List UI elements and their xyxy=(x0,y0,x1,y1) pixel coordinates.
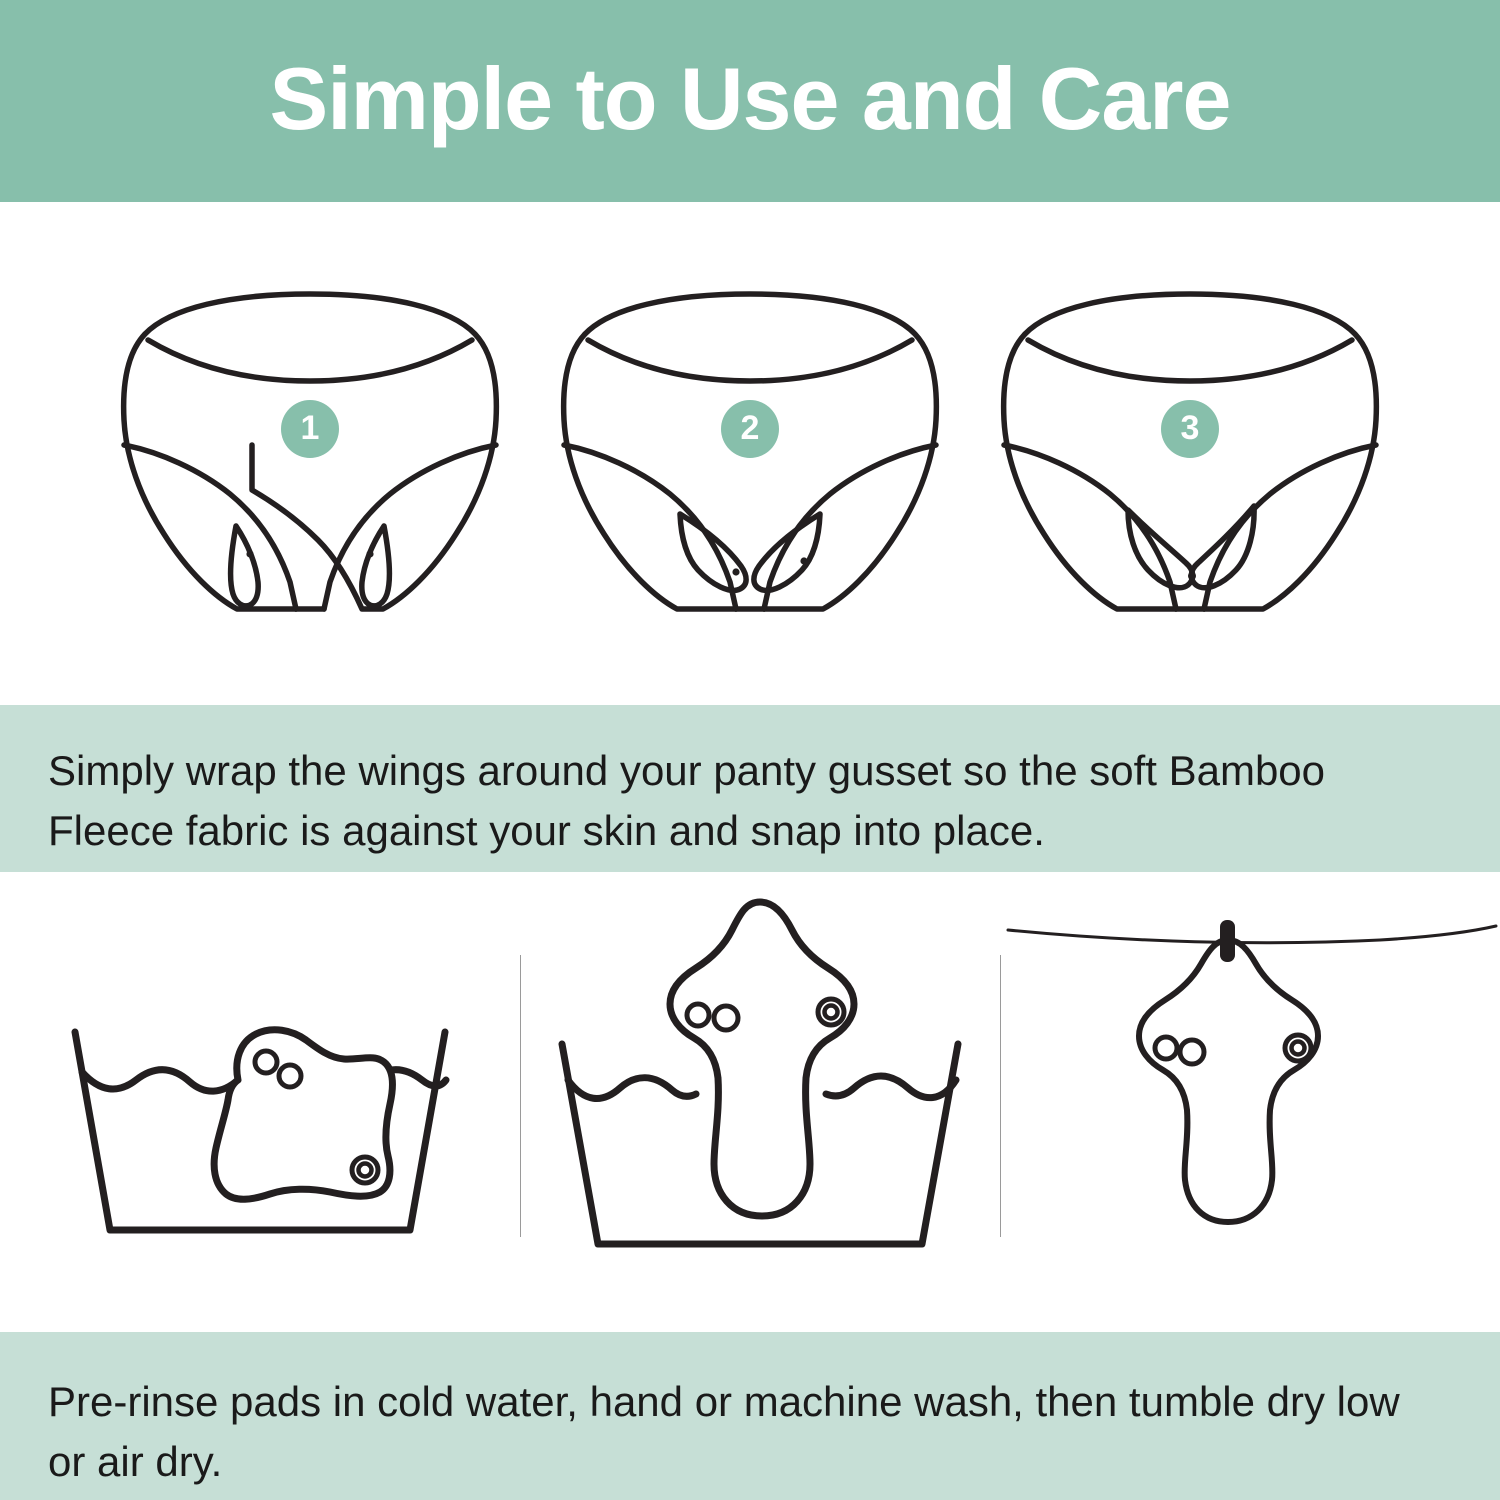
care-icon-cell-1 xyxy=(0,872,520,1332)
snap-socket-inner xyxy=(825,1006,838,1019)
step-number-2: 2 xyxy=(741,411,760,445)
care-instruction-text: Pre-rinse pads in cold water, hand or ma… xyxy=(48,1372,1448,1491)
care-icon-cell-2 xyxy=(520,872,1000,1332)
snap-dot-center xyxy=(1188,572,1196,580)
snap-ring-b xyxy=(1180,1040,1204,1064)
snap-dot-left xyxy=(246,550,253,557)
infographic-page: Simple to Use and Care xyxy=(0,0,1500,1500)
snap-ring-b xyxy=(714,1006,738,1030)
snap-ring-a xyxy=(687,1004,709,1026)
steps-row: 1 xyxy=(0,202,1500,705)
snap-socket-inner xyxy=(359,1164,372,1177)
pad-hanging-line-icon xyxy=(1000,872,1500,1332)
snap-ring-a xyxy=(1155,1037,1177,1059)
instruction-text: Simply wrap the wings around your panty … xyxy=(48,741,1458,860)
step-number-badge-2: 2 xyxy=(721,400,779,458)
header-band: Simple to Use and Care xyxy=(0,0,1500,202)
instruction-band: Simply wrap the wings around your panty … xyxy=(0,705,1500,872)
care-icons-row xyxy=(0,872,1500,1332)
clothesline xyxy=(1008,926,1496,943)
care-icon-cell-3 xyxy=(1000,872,1500,1332)
step-illustration-2: 2 xyxy=(540,282,960,622)
step-illustration-1: 1 xyxy=(100,282,520,622)
snap-ring-a xyxy=(255,1051,277,1073)
pad-dipping-basin-icon xyxy=(520,872,1000,1332)
care-instruction-band: Pre-rinse pads in cold water, hand or ma… xyxy=(0,1332,1500,1500)
page-title: Simple to Use and Care xyxy=(270,55,1231,143)
snap-dot-left xyxy=(732,568,739,575)
step-number-badge-1: 1 xyxy=(281,400,339,458)
clothespin-icon xyxy=(1220,920,1235,962)
snap-dot-right xyxy=(366,550,373,557)
pad-soaking-basin-icon xyxy=(0,872,520,1332)
step-number-3: 3 xyxy=(1181,411,1200,445)
step-illustration-3: 3 xyxy=(980,282,1400,622)
snap-socket-inner xyxy=(1292,1042,1305,1055)
step-number-1: 1 xyxy=(301,411,320,445)
snap-dot-right xyxy=(800,557,807,564)
step-number-badge-3: 3 xyxy=(1161,400,1219,458)
snap-ring-b xyxy=(279,1065,301,1087)
